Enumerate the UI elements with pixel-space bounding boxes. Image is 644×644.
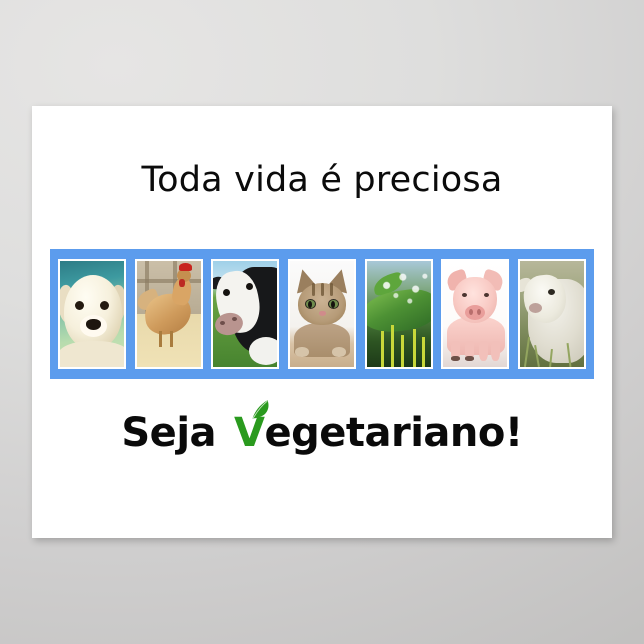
page-title: Toda vida é preciosa (32, 163, 612, 198)
vegetarian-v-logo: V (234, 413, 264, 453)
poster-canvas: Toda vida é preciosa (32, 106, 612, 538)
fish-photo (365, 259, 433, 369)
tagline: SejaVegetariano! (32, 413, 612, 453)
puppy-photo (58, 259, 126, 369)
kitten-photo (288, 259, 356, 369)
animal-photo-strip (50, 249, 594, 379)
poster-stage: Toda vida é preciosa (0, 0, 644, 644)
chicken-photo (135, 259, 203, 369)
lamb-photo (518, 259, 586, 369)
tagline-word-egetariano: egetariano! (264, 410, 522, 456)
cow-photo (211, 259, 279, 369)
tagline-green-v: V (234, 410, 264, 456)
piglet-photo (441, 259, 509, 369)
tagline-word-seja: Seja (121, 410, 216, 456)
